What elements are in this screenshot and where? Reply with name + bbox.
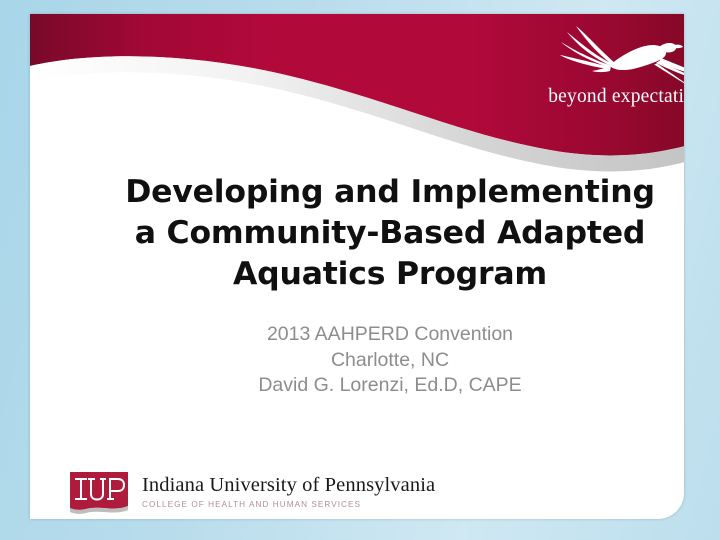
tagline-text: beyond expectations — [535, 86, 684, 108]
eagle-icon — [541, 20, 684, 86]
subtitle-line-location: Charlotte, NC — [90, 348, 684, 374]
title-line-1: Developing and Implementing — [90, 172, 684, 213]
crimson-wave-banner — [30, 14, 684, 174]
subtitle-line-presenter: David G. Lorenzi, Ed.D, CAPE — [90, 373, 684, 399]
beyond-expectations-lockup: beyond expectations — [535, 20, 684, 120]
slide-subtitle: 2013 AAHPERD Convention Charlotte, NC Da… — [90, 322, 684, 399]
title-line-2: a Community-Based Adapted — [90, 213, 684, 254]
iup-monogram-icon — [68, 472, 130, 518]
slide-content-panel: beyond expectations Developing and Imple… — [30, 14, 684, 519]
title-slide: beyond expectations Developing and Imple… — [0, 0, 720, 540]
page-title: Developing and Implementing a Community-… — [90, 172, 684, 295]
iup-logo: Indiana University of Pennsylvania COLLE… — [68, 472, 435, 519]
college-name: COLLEGE OF HEALTH AND HUMAN SERVICES — [142, 500, 435, 509]
subtitle-line-event: 2013 AAHPERD Convention — [90, 322, 684, 348]
university-name: Indiana University of Pennsylvania — [142, 474, 435, 497]
title-line-3: Aquatics Program — [90, 254, 684, 295]
iup-wordmark: Indiana University of Pennsylvania COLLE… — [142, 472, 435, 509]
